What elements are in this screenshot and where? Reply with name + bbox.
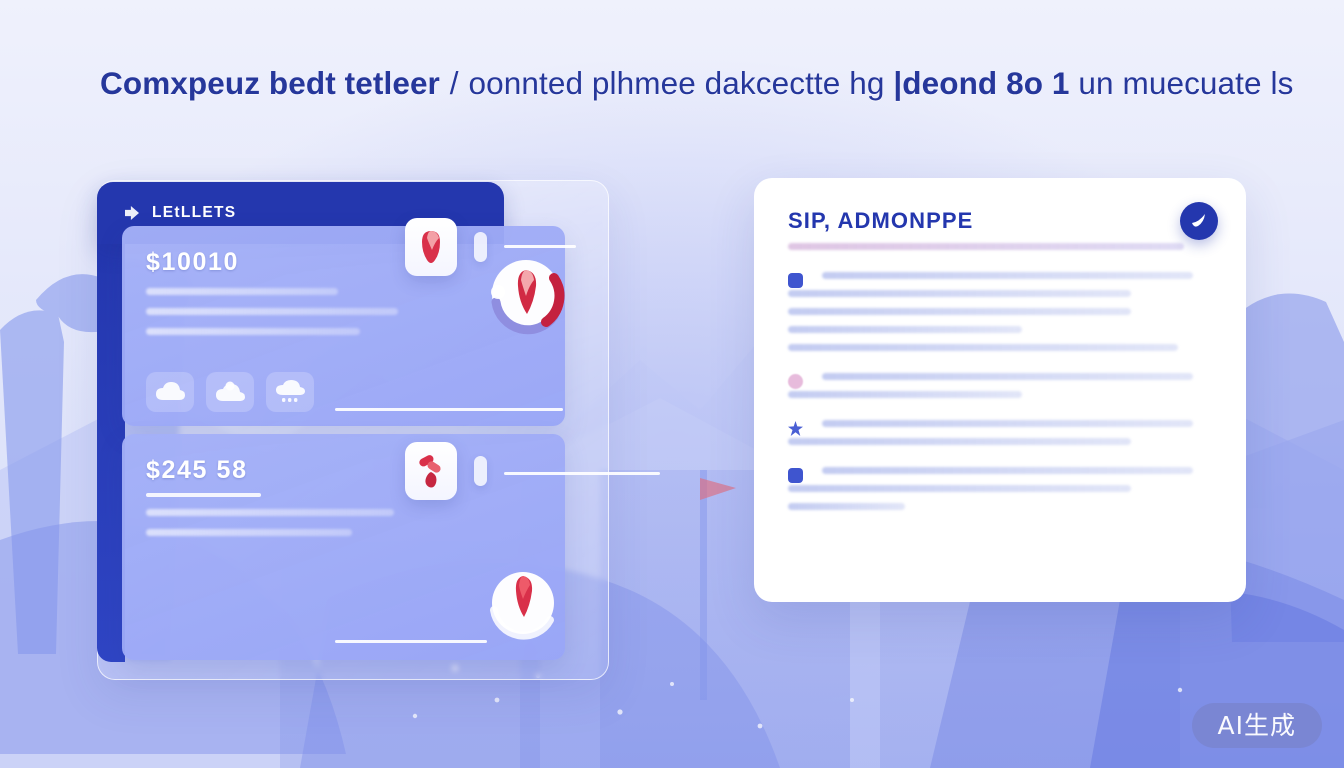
ai-generated-watermark: AI生成: [1192, 703, 1322, 748]
panel-header-title: LEtLLETS: [152, 204, 236, 222]
tag-bullet-icon: [788, 468, 803, 483]
capsule-orb-illustration: [480, 248, 572, 340]
text-line: [788, 503, 905, 510]
cloud-sun-icon[interactable]: [206, 372, 254, 412]
text-line: [146, 529, 352, 536]
panel-side-rail: [97, 216, 125, 662]
text-line: [788, 485, 1131, 492]
text-line: [788, 344, 1178, 351]
dot-bullet-icon: [788, 374, 803, 389]
text-line: [146, 288, 338, 295]
weather-chip-row: [146, 372, 314, 412]
cloud-icon[interactable]: [146, 372, 194, 412]
capsule-orb-illustration-small: [480, 560, 566, 646]
capsule-marker: [474, 456, 487, 486]
page-title-segment: oonnted plhmee dakcectte hg: [460, 65, 885, 101]
page-title-segment: Comxpeuz: [100, 65, 260, 101]
card-description: [146, 509, 541, 536]
cloud-rain-icon[interactable]: [266, 372, 314, 412]
text-line: [822, 420, 1193, 427]
text-line: [788, 308, 1131, 315]
text-line: [822, 467, 1193, 474]
info-card: SIP, ADMONPPE: [754, 178, 1246, 602]
page-title-segment: /: [440, 65, 460, 101]
divider-rule: [335, 408, 563, 411]
tag-bullet-icon: [788, 273, 803, 288]
star-bullet-icon: [788, 421, 803, 436]
text-line: [146, 509, 394, 516]
text-line: [788, 290, 1131, 297]
info-card-subtitle: [788, 243, 1184, 250]
divider-rule: [504, 472, 660, 475]
info-paragraph: [788, 373, 1212, 398]
page-title: Comxpeuz bedt tetleer / oonnted plhmee d…: [100, 56, 1270, 110]
pills-cluster-icon[interactable]: [405, 442, 457, 500]
page-title-segment: un muecuate ls: [1070, 65, 1294, 101]
info-paragraph: [788, 420, 1212, 445]
page-title-segment: |deond 8o 1: [885, 65, 1070, 101]
text-line: [146, 308, 398, 315]
text-line: [788, 391, 1022, 398]
text-line: [146, 328, 360, 335]
divider-rule: [335, 640, 487, 643]
send-arrow-icon: [125, 206, 139, 220]
text-line: [822, 272, 1193, 279]
info-paragraph: [788, 272, 1212, 351]
amount-underline: [146, 493, 261, 497]
pill-capsule-icon[interactable]: [405, 218, 457, 276]
info-card-title: SIP, ADMONPPE: [788, 208, 1212, 234]
page-title-segment: bedt tetleer: [260, 65, 440, 101]
info-paragraph: [788, 467, 1212, 510]
text-line: [788, 438, 1131, 445]
verified-swoosh-icon[interactable]: [1180, 202, 1218, 240]
text-line: [822, 373, 1193, 380]
text-line: [788, 326, 1022, 333]
